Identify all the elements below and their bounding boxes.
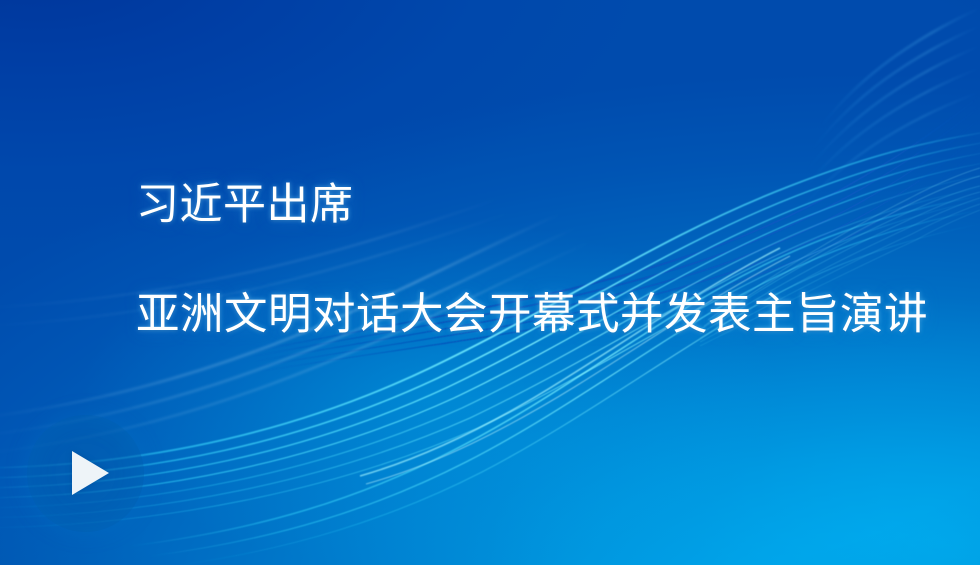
play-triangle-icon [72, 451, 109, 495]
headline-line-1: 习近平出席 [136, 178, 936, 232]
headline-block: 习近平出席 亚洲文明对话大会开幕式并发表主旨演讲 [136, 178, 936, 342]
video-thumbnail-slide: 习近平出席 亚洲文明对话大会开幕式并发表主旨演讲 [0, 0, 980, 565]
play-button[interactable] [27, 415, 144, 532]
headline-line-2: 亚洲文明对话大会开幕式并发表主旨演讲 [136, 288, 936, 342]
